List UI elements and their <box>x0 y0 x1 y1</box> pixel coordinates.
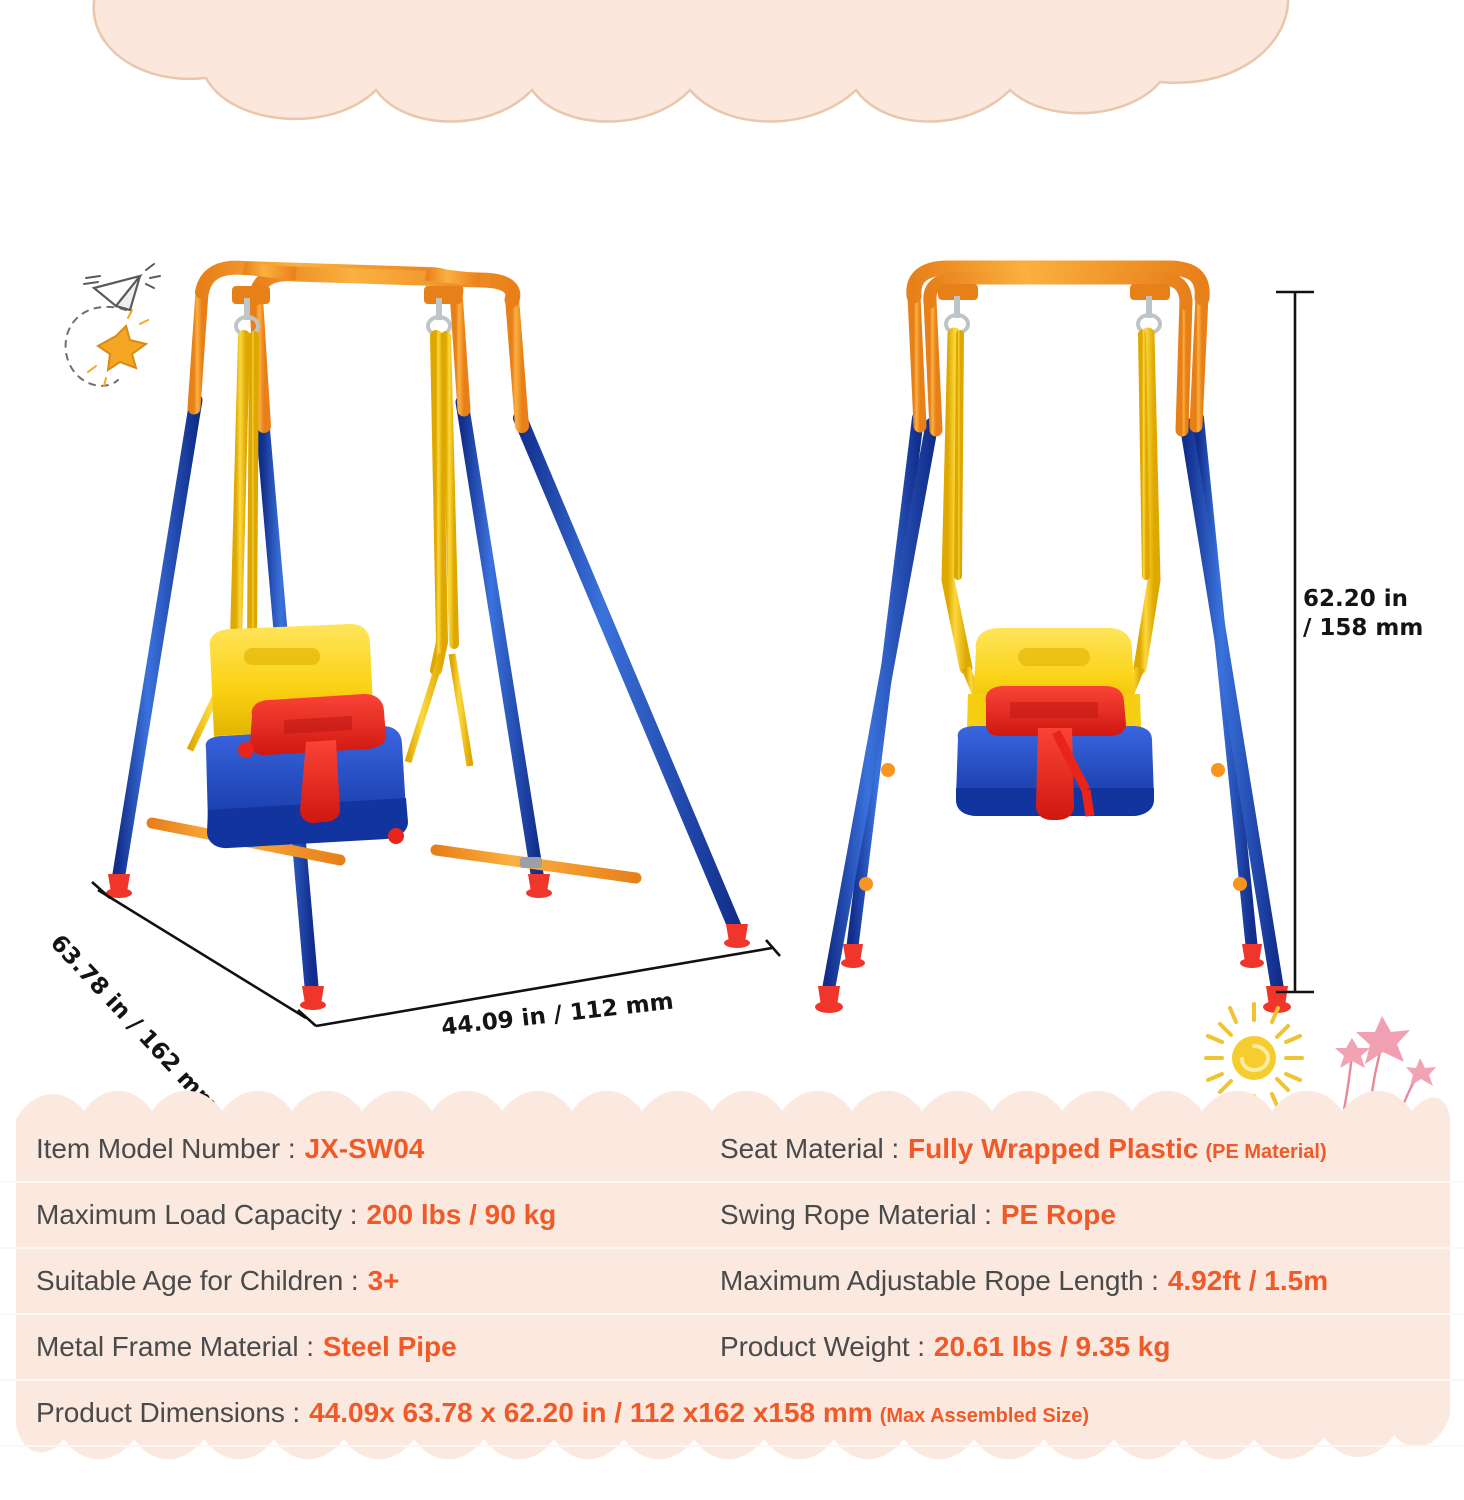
table-row: Item Model Number : JX-SW04 Seat Materia… <box>0 1117 1464 1183</box>
spec-product-dimensions: Product Dimensions : 44.09x 63.78 x 62.2… <box>0 1397 1464 1429</box>
header-cloud-shape <box>0 0 1348 250</box>
dimension-label-height-line1: 62.20 in <box>1303 585 1433 614</box>
spec-seat-material: Seat Material : Fully Wrapped Plastic (P… <box>704 1133 1464 1165</box>
spec-value: JX-SW04 <box>305 1133 425 1165</box>
spec-value: 200 lbs / 90 kg <box>366 1199 556 1231</box>
spec-note: (Max Assembled Size) <box>880 1405 1089 1428</box>
spec-value: 44.09x 63.78 x 62.20 in / 112 x162 x158 … <box>309 1397 873 1429</box>
swing-set-drawing <box>0 250 1464 1080</box>
table-row: Suitable Age for Children : 3+ Maximum A… <box>0 1249 1464 1315</box>
spec-value: Fully Wrapped Plastic <box>908 1133 1198 1165</box>
paper-plane-star-doodle <box>58 248 208 398</box>
spec-max-load-capacity: Maximum Load Capacity : 200 lbs / 90 kg <box>0 1199 704 1231</box>
spec-label: Product Dimensions : <box>36 1397 300 1429</box>
spec-label: Maximum Adjustable Rope Length : <box>720 1265 1159 1297</box>
spec-product-weight: Product Weight : 20.61 lbs / 9.35 kg <box>704 1331 1464 1363</box>
hanger-hardware-front-left <box>938 284 978 333</box>
swing-seat-side <box>206 624 408 848</box>
swing-seat-front <box>956 628 1154 820</box>
spec-value: PE Rope <box>1001 1199 1116 1231</box>
spec-label: Maximum Load Capacity : <box>36 1199 357 1231</box>
spec-note: (PE Material) <box>1205 1141 1326 1164</box>
paper-plane-icon <box>84 264 160 310</box>
spec-suitable-age: Suitable Age for Children : 3+ <box>0 1265 704 1297</box>
spec-label: Seat Material : <box>720 1133 899 1165</box>
spec-value: Steel Pipe <box>323 1331 457 1363</box>
spec-panel: Item Model Number : JX-SW04 Seat Materia… <box>0 1075 1464 1500</box>
spec-value: 3+ <box>368 1265 400 1297</box>
spec-label: Item Model Number : <box>36 1133 296 1165</box>
table-row: Maximum Load Capacity : 200 lbs / 90 kg … <box>0 1183 1464 1249</box>
spec-max-rope-length: Maximum Adjustable Rope Length : 4.92ft … <box>704 1265 1464 1297</box>
front-view-swing-set <box>815 268 1314 1013</box>
star-icon <box>88 310 148 386</box>
spec-value: 4.92ft / 1.5m <box>1168 1265 1328 1297</box>
doodle-group <box>58 248 208 398</box>
dimension-lines-side <box>92 882 780 1026</box>
spec-table: Item Model Number : JX-SW04 Seat Materia… <box>0 1117 1464 1447</box>
header-banner: PRODUCT PARAMETERS <box>0 0 1348 250</box>
spec-label: Swing Rope Material : <box>720 1199 992 1231</box>
spec-metal-frame-material: Metal Frame Material : Steel Pipe <box>0 1331 704 1363</box>
product-illustration <box>0 250 1464 1080</box>
dimension-label-height-line2: / 158 mm <box>1303 614 1433 643</box>
dimension-label-height: 62.20 in / 158 mm <box>1303 585 1433 644</box>
spec-value: 20.61 lbs / 9.35 kg <box>934 1331 1171 1363</box>
spec-label: Product Weight : <box>720 1331 925 1363</box>
spec-item-model-number: Item Model Number : JX-SW04 <box>0 1133 704 1165</box>
spec-swing-rope-material: Swing Rope Material : PE Rope <box>704 1199 1464 1231</box>
hanger-hardware-front-right <box>1130 284 1170 333</box>
table-row: Product Dimensions : 44.09x 63.78 x 62.2… <box>0 1381 1464 1447</box>
spec-label: Metal Frame Material : <box>36 1331 314 1363</box>
table-row: Metal Frame Material : Steel Pipe Produc… <box>0 1315 1464 1381</box>
spec-label: Suitable Age for Children : <box>36 1265 359 1297</box>
